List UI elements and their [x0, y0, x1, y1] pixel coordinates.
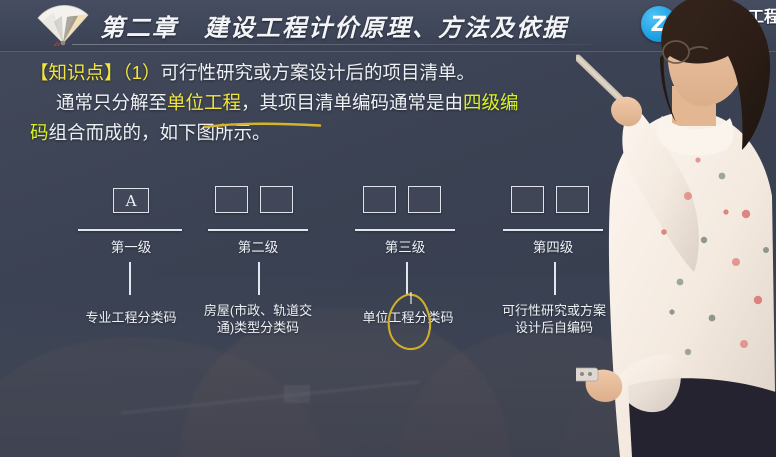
highlight-four-level-b: 码	[30, 122, 49, 143]
slide-title-bar: 第二章 建设工程计价原理、方法及依据 Z 正保建设工程 www.jianshe	[0, 0, 776, 52]
brand-name: 正保建设工程	[684, 10, 776, 27]
text-line-1: 【知识点】（1）可行性研究或方案设计后的项目清单。	[30, 58, 630, 88]
highlight-unit-project: 单位工程	[167, 92, 241, 113]
level-stem-3	[406, 262, 408, 295]
brand-url: www.jianshe	[684, 27, 776, 39]
level-desc-1: 专业工程分类码	[62, 309, 200, 326]
title-divider	[72, 44, 592, 45]
code-box-l1-1: A	[113, 188, 149, 213]
level-stem-2	[258, 262, 260, 295]
level-label-1: 第一级	[79, 236, 183, 256]
brand-mark-icon: Z	[641, 6, 677, 42]
level-rule-2	[208, 229, 308, 231]
level-label-3: 第三级	[355, 236, 455, 256]
level-desc-3: 单位工程分类码	[346, 309, 470, 326]
level-desc-2: 房屋(市政、轨道交 通)类型分类码	[198, 302, 318, 336]
level-rule-1	[78, 229, 182, 231]
highlight-four-level-a: 四级编	[463, 92, 519, 113]
brand-logo: Z 正保建设工程 www.jianshe	[641, 6, 776, 42]
code-box-l4-2	[556, 186, 589, 213]
level-stem-1	[129, 262, 131, 295]
knowledge-point-tag: 【知识点】（1）	[30, 62, 161, 83]
yellow-ellipse-ink	[384, 292, 436, 354]
level-label-4: 第四级	[503, 236, 603, 256]
page-title: 第二章 建设工程计价原理、方法及依据	[100, 8, 568, 43]
text-line-2: 通常只分解至单位工程，其项目清单编码通常是由四级编	[30, 88, 630, 118]
level-stem-4	[554, 262, 556, 295]
code-box-l2-1	[215, 186, 248, 213]
presentation-remote	[576, 368, 598, 381]
lecture-slide: 第二章 建设工程计价原理、方法及依据 Z 正保建设工程 www.jianshe …	[0, 0, 776, 457]
level-label-2: 第二级	[208, 236, 308, 256]
code-box-l3-1	[363, 186, 396, 213]
level-rule-3	[355, 229, 455, 231]
lesson-text-block: 【知识点】（1）可行性研究或方案设计后的项目清单。 通常只分解至单位工程，其项目…	[30, 58, 630, 148]
text-line-2-b: ，其项目清单编码通常是由	[241, 92, 463, 113]
great-wall-backdrop	[0, 277, 776, 457]
code-box-l3-2	[408, 186, 441, 213]
code-box-l4-1	[511, 186, 544, 213]
brand-mark-letter: Z	[650, 14, 667, 35]
text-line-3-rest: 组合而成的，如下图所示。	[49, 122, 271, 143]
text-line-2-a: 通常只分解至	[56, 92, 167, 113]
text-line-1-rest: 可行性研究或方案设计后的项目清单。	[161, 62, 476, 83]
level-desc-4: 可行性研究或方案 设计后自编码	[489, 302, 619, 336]
code-box-l2-2	[260, 186, 293, 213]
text-line-3: 码组合而成的，如下图所示。	[30, 118, 630, 148]
folding-fan-icon	[34, 4, 92, 46]
level-rule-4	[503, 229, 603, 231]
